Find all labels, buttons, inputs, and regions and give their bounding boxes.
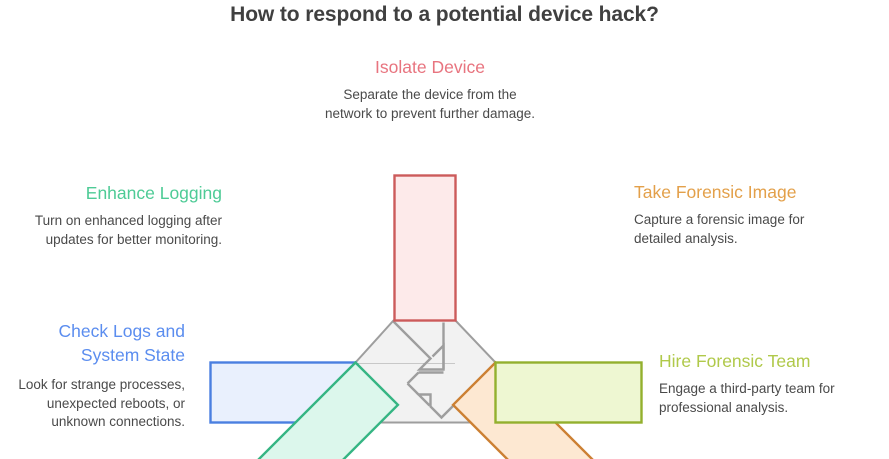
- node-hire-forensic-team: Hire Forensic Team Engage a third-party …: [659, 349, 879, 417]
- node-checklogs-title-line1: Check Logs and: [59, 321, 185, 341]
- node-isolate-title: Isolate Device: [322, 55, 538, 79]
- bar-hire-forensic-team: [496, 363, 642, 423]
- center-gray-upper: [356, 321, 456, 363]
- diagram-canvas: How to respond to a potential device hac…: [0, 0, 889, 459]
- node-enhance-logging: Enhance Logging Turn on enhanced logging…: [18, 181, 222, 249]
- node-hireteam-title: Hire Forensic Team: [659, 349, 879, 373]
- node-checklogs-title-line2: System State: [81, 345, 185, 365]
- node-checklogs-title: Check Logs and System State: [10, 319, 185, 367]
- node-take-forensic-image: Take Forensic Image Capture a forensic i…: [634, 180, 844, 248]
- node-enhance-title: Enhance Logging: [18, 181, 222, 205]
- node-check-logs: Check Logs and System State Look for str…: [10, 319, 185, 432]
- node-hireteam-desc: Engage a third-party team for profession…: [659, 380, 879, 417]
- node-checklogs-desc: Look for strange processes, unexpected r…: [10, 376, 185, 432]
- node-forensic-desc: Capture a forensic image for detailed an…: [634, 211, 844, 248]
- bar-isolate-device: [395, 176, 456, 321]
- node-forensic-title: Take Forensic Image: [634, 180, 844, 204]
- node-isolate-device: Isolate Device Separate the device from …: [322, 55, 538, 123]
- node-enhance-desc: Turn on enhanced logging after updates f…: [18, 212, 222, 249]
- node-isolate-desc: Separate the device from the network to …: [322, 86, 538, 123]
